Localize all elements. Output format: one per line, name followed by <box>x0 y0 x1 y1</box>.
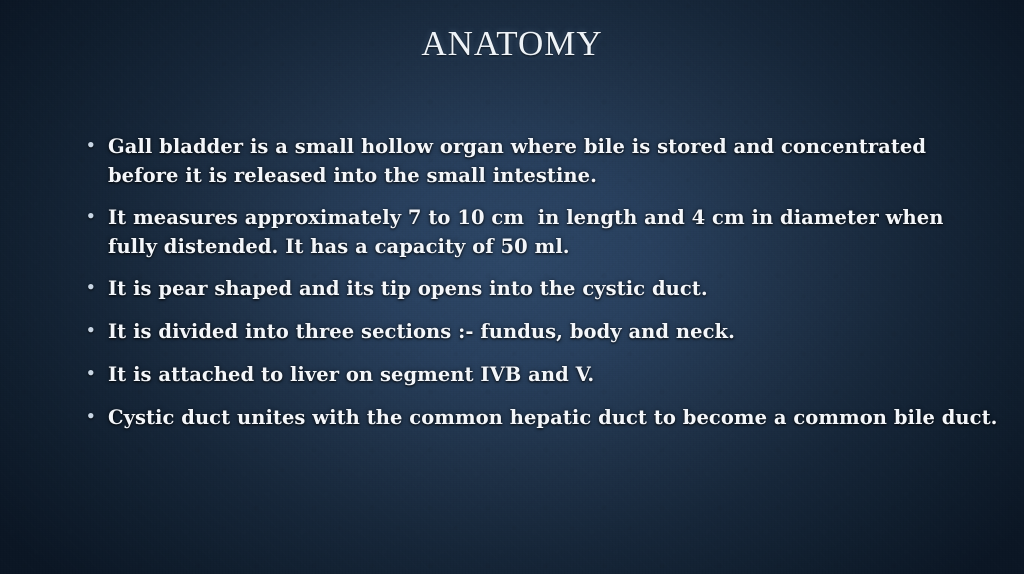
bullet-item: It measures approximately 7 to 10 cm in … <box>82 203 998 261</box>
bullet-item: It is attached to liver on segment IVB a… <box>82 360 998 389</box>
bullet-item: It is pear shaped and its tip opens into… <box>82 274 998 303</box>
bullet-item: Cystic duct unites with the common hepat… <box>82 403 998 432</box>
bullet-list: Gall bladder is a small hollow organ whe… <box>82 132 998 446</box>
presentation-slide: Anatomy Gall bladder is a small hollow o… <box>0 0 1024 574</box>
bullet-item: It is divided into three sections :- fun… <box>82 317 998 346</box>
bullet-item: Gall bladder is a small hollow organ whe… <box>82 132 998 190</box>
slide-title: Anatomy <box>0 22 1024 66</box>
slide-content: Anatomy Gall bladder is a small hollow o… <box>0 0 1024 574</box>
